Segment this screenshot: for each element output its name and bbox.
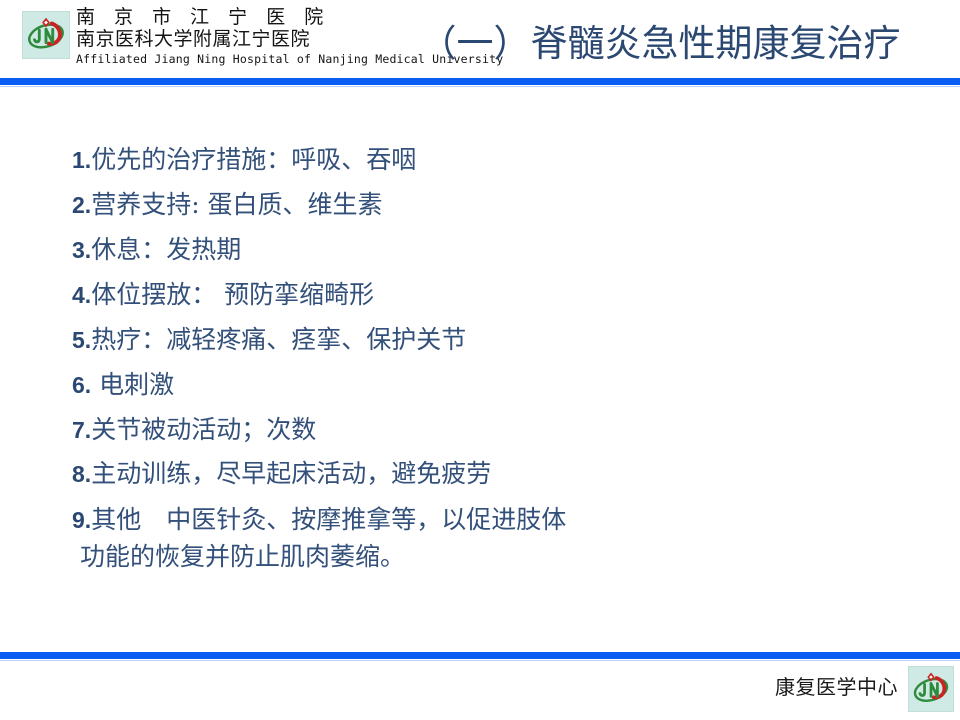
list-item-continuation: 功能的恢复并防止肌肉萎缩。 [80,541,405,573]
list-item-number: 5. [72,327,91,353]
list-item-text: 体位摆放： 预防挛缩畸形 [91,280,374,309]
slide-header: 南 京 市 江 宁 医 院 南京医科大学附属江宁医院 Affiliated Ji… [0,0,960,78]
list-item: 6. 电刺激 [72,369,174,401]
hospital-logo-svg [23,12,69,58]
header-divider-bar [0,78,960,85]
list-item-text: 主动训练，尽早起床活动，避免疲劳 [91,459,491,488]
presentation-slide: 南 京 市 江 宁 医 院 南京医科大学附属江宁医院 Affiliated Ji… [0,0,960,720]
hospital-logo-icon [22,11,70,59]
list-item: 1.优先的治疗措施：呼吸、吞咽 [72,144,416,176]
list-item-text: 电刺激 [91,370,174,399]
list-item: 2.营养支持: 蛋白质、维生素 [72,189,383,221]
hospital-name-cn-line2: 南京医科大学附属江宁医院 [76,28,376,50]
list-item-number: 3. [72,237,91,263]
list-item-number: 1. [72,147,91,173]
hospital-logo-svg [909,667,953,711]
list-item-text: 关节被动活动；次数 [91,415,316,444]
list-item-number: 2. [72,192,91,218]
list-item: 8.主动训练，尽早起床活动，避免疲劳 [72,458,491,490]
hospital-name-en: Affiliated Jiang Ning Hospital of Nanjin… [76,51,376,67]
list-item-number: 4. [72,282,91,308]
header-divider-hairline [0,86,960,87]
list-item-text: 其他 中医针灸、按摩推拿等，以促进肢体 [91,505,566,534]
list-item: 5.热疗：减轻疼痛、痉挛、保护关节 [72,324,466,356]
list-item-number: 7. [72,417,91,443]
hospital-logo-icon [908,666,954,712]
footer-label: 康复医学中心 [775,674,898,700]
list-item: 4.体位摆放： 预防挛缩畸形 [72,279,374,311]
list-item-text: 休息：发热期 [91,235,241,264]
list-item-number: 9. [72,507,91,533]
hospital-name-block: 南 京 市 江 宁 医 院 南京医科大学附属江宁医院 Affiliated Ji… [76,6,376,67]
list-item-text: 营养支持: 蛋白质、维生素 [91,190,382,219]
footer-divider-bar [0,652,960,659]
list-item: 3.休息：发热期 [72,234,241,266]
list-item: 9.其他 中医针灸、按摩推拿等，以促进肢体 [72,504,566,536]
slide-body: 1.优先的治疗措施：呼吸、吞咽 2.营养支持: 蛋白质、维生素 3.休息：发热期… [0,94,960,644]
slide-title: （一）脊髓炎急性期康复治疗 [380,20,940,68]
list-item-text: 热疗：减轻疼痛、痉挛、保护关节 [91,325,466,354]
list-item: 7.关节被动活动；次数 [72,414,316,446]
list-item-text: 优先的治疗措施：呼吸、吞咽 [91,145,416,174]
list-item-number: 8. [72,461,91,487]
slide-footer: 康复医学中心 [0,660,960,720]
list-item-number: 6. [72,372,91,398]
hospital-name-cn-line1: 南 京 市 江 宁 医 院 [76,6,376,28]
